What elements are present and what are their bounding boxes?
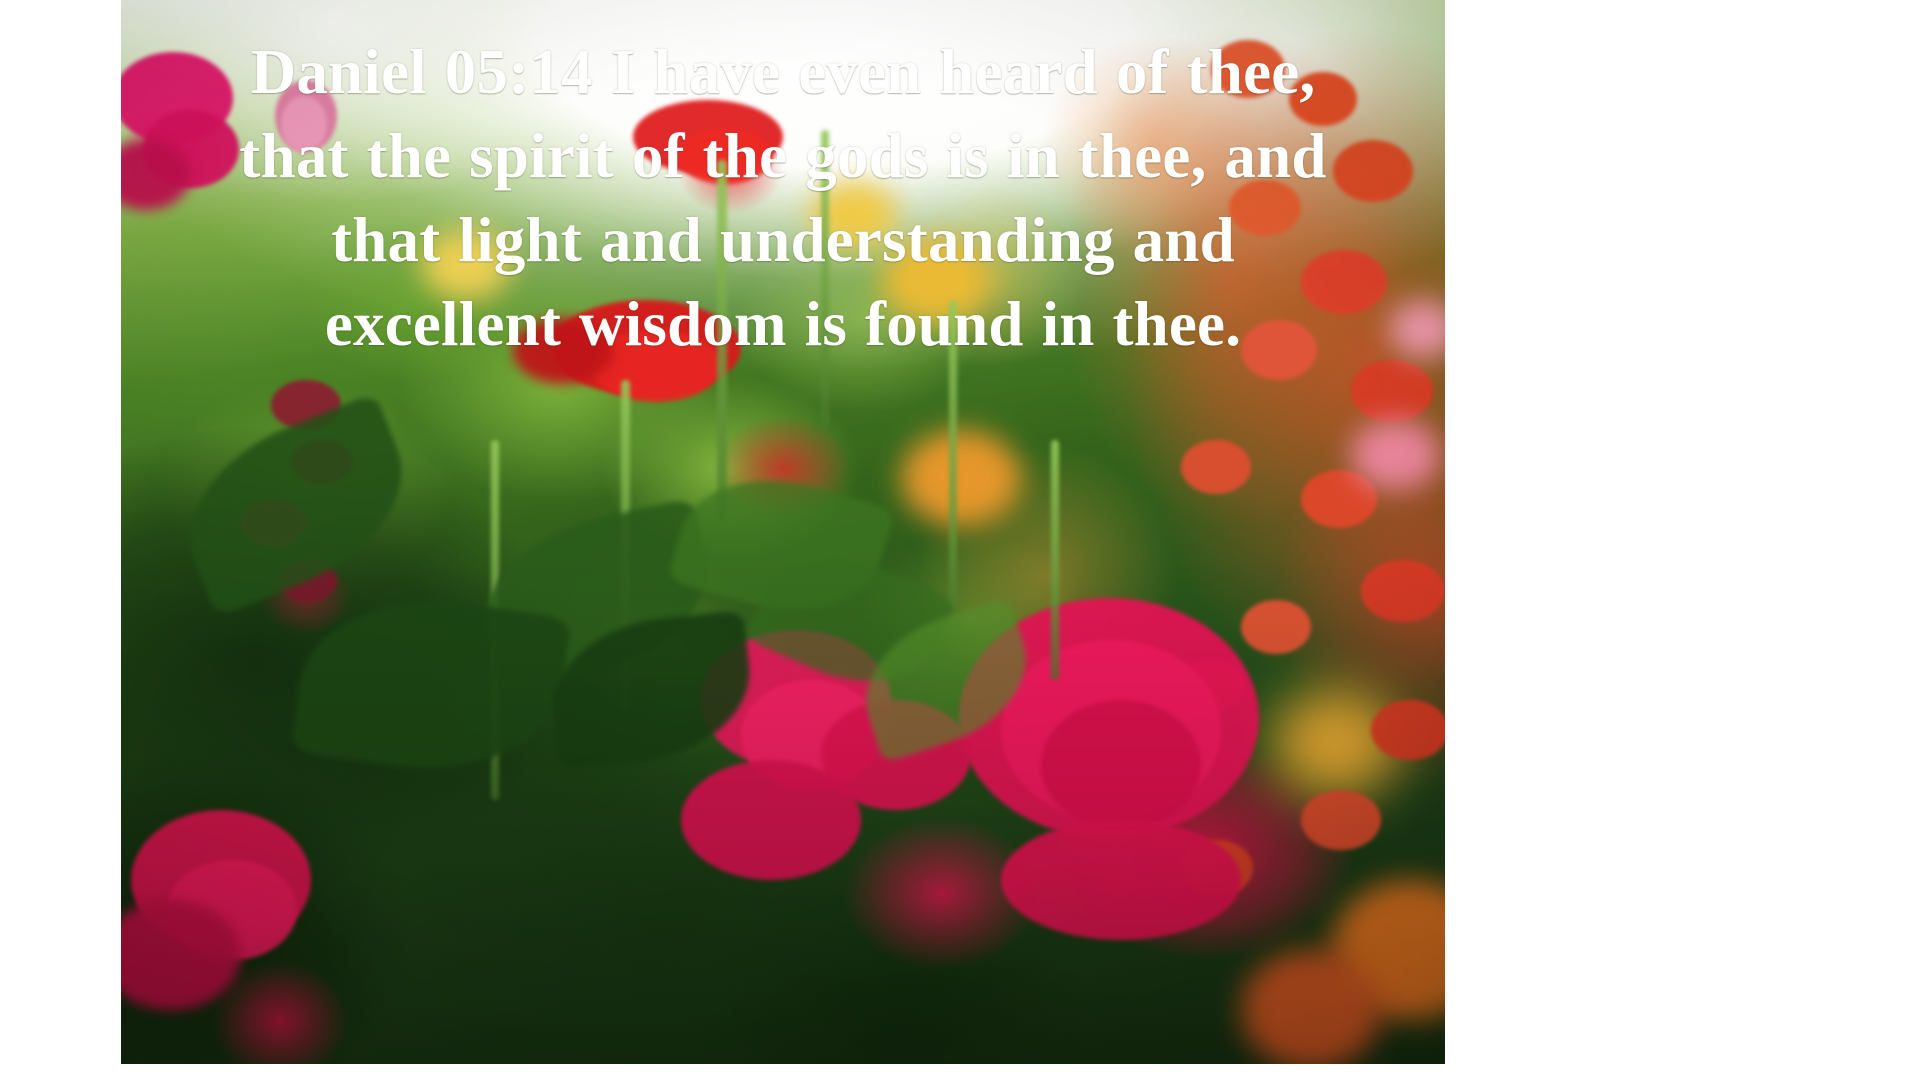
page-canvas: Daniel 05:14 I have even heard of thee, …: [0, 0, 1920, 1080]
scripture-photo-card: Daniel 05:14 I have even heard of thee, …: [121, 0, 1445, 1064]
page-margin-left: [0, 0, 121, 1080]
page-margin-right: [1445, 0, 1920, 1080]
verse-overlay: Daniel 05:14 I have even heard of thee, …: [121, 30, 1445, 366]
verse-text: Daniel 05:14 I have even heard of thee, …: [211, 30, 1355, 366]
page-margin-bottom: [0, 1064, 1920, 1080]
